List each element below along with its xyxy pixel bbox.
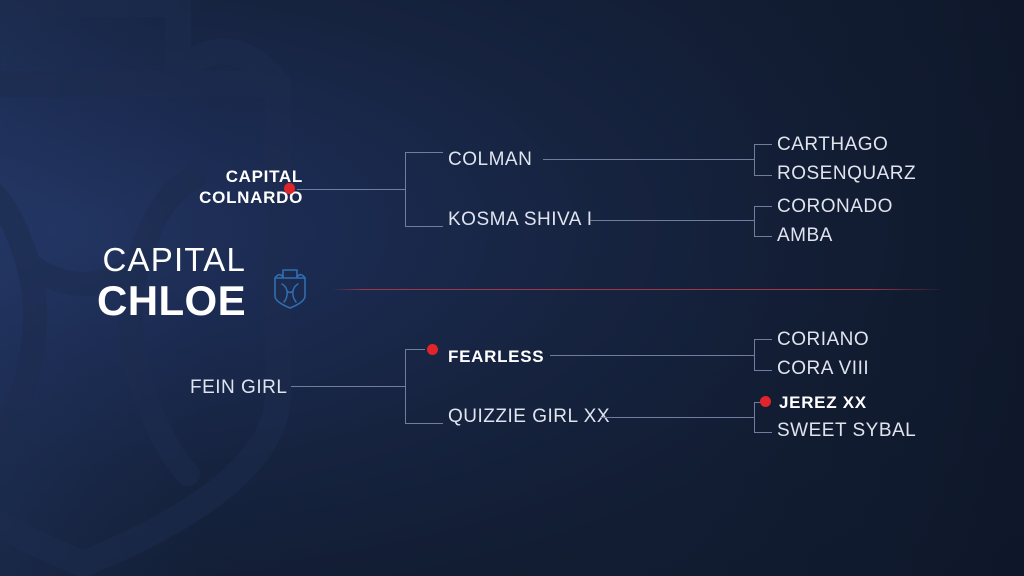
pedigree-node-dam-gen1[interactable]: FEIN GIRL: [190, 378, 287, 397]
connector-line: [600, 417, 754, 418]
connector-line: [754, 206, 772, 207]
connector-line: [405, 349, 406, 423]
pedigree-node-sire-gen3-3[interactable]: AMBA: [777, 226, 833, 245]
pedigree-node-dam-gen3-1[interactable]: CORA VIII: [777, 359, 869, 378]
pedigree-slide: CAPITAL CHLOE CAPITAL COLNARDO: [0, 0, 1024, 576]
connector-line: [291, 386, 405, 387]
connector-line: [754, 370, 772, 371]
section-divider: [333, 289, 940, 290]
connector-line: [754, 339, 755, 370]
pedigree-node-sire-gen2-1[interactable]: KOSMA SHIVA I: [448, 210, 592, 229]
title-line-1: CAPITAL: [0, 243, 246, 276]
pedigree-node-dam-gen2-1[interactable]: QUIZZIE GIRL XX: [448, 407, 610, 426]
pedigree-node-sire-gen3-1[interactable]: ROSENQUARZ: [777, 164, 916, 183]
connector-line: [754, 402, 755, 432]
connector-line: [754, 144, 755, 175]
pedigree-node-label: COLNARDO: [136, 187, 303, 208]
pedigree-node-sire-gen3-0[interactable]: CARTHAGO: [777, 135, 888, 154]
pedigree-node-dam-gen3-0[interactable]: CORIANO: [777, 330, 869, 349]
connector-line: [405, 152, 443, 153]
pedigree-node-dam-gen3-3[interactable]: SWEET SYBAL: [777, 421, 916, 440]
pedigree-node-dam-gen3-2[interactable]: JEREZ XX: [779, 394, 867, 411]
pedigree-node-dam-gen2-0[interactable]: FEARLESS: [448, 348, 544, 365]
connector-line: [297, 189, 405, 190]
connector-line: [543, 159, 754, 160]
connector-line: [550, 355, 754, 356]
connector-line: [405, 349, 425, 350]
connector-line: [405, 423, 443, 424]
marker-dot-sire-gen1: [284, 183, 295, 194]
connector-line: [754, 339, 772, 340]
connector-line: [754, 432, 772, 433]
pedigree-node-label: CAPITAL: [136, 166, 303, 187]
marker-dot-dam-gen3: [760, 396, 771, 407]
connector-line: [754, 175, 772, 176]
connector-line: [405, 152, 406, 226]
marker-dot-dam-gen2: [427, 344, 438, 355]
shield-crest-icon: [270, 265, 310, 311]
pedigree-node-sire-gen1[interactable]: CAPITAL COLNARDO: [136, 166, 303, 209]
connector-line: [590, 220, 754, 221]
title-line-2: CHLOE: [0, 280, 246, 322]
connector-line: [754, 236, 772, 237]
connector-line: [754, 206, 755, 236]
pedigree-node-sire-gen2-0[interactable]: COLMAN: [448, 150, 532, 169]
connector-line: [405, 226, 443, 227]
pedigree-node-sire-gen3-2[interactable]: CORONADO: [777, 197, 893, 216]
connector-line: [754, 144, 772, 145]
page-title: CAPITAL CHLOE: [0, 243, 246, 322]
